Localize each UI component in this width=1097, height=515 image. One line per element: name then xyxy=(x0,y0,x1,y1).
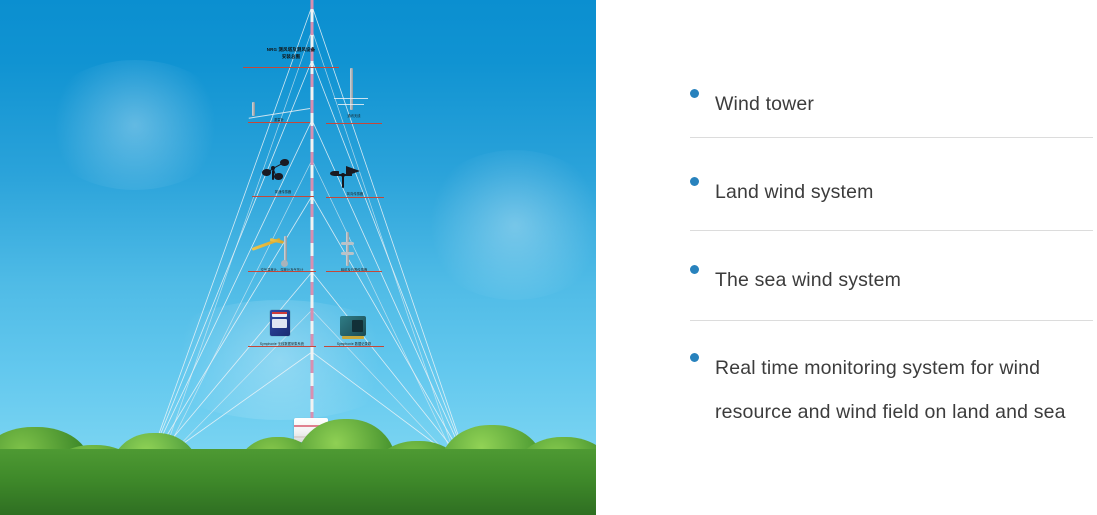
instrument-antenna: 通讯天线 xyxy=(326,68,382,128)
cup-2 xyxy=(262,169,271,176)
cup-3 xyxy=(274,173,283,180)
bullet-icon xyxy=(690,177,699,186)
list-divider-1 xyxy=(690,137,1093,138)
feature-label: Real time monitoring system for wind res… xyxy=(715,346,1066,434)
label-underline-8 xyxy=(324,346,384,347)
instrument-label-antenna: 通讯天线 xyxy=(347,114,360,118)
feature-line-2: resource and wind field on land and sea xyxy=(715,390,1066,434)
instrument-power-supply: Symphonie 数据记录箱 xyxy=(324,310,384,356)
label-underline-5 xyxy=(248,271,316,272)
solar-sensor-ring-1 xyxy=(341,242,354,245)
diagram-title-line1: NRG 测风塔及测风设备 xyxy=(267,47,316,52)
label-underline-7 xyxy=(248,346,316,347)
lightning-rod-post xyxy=(252,102,255,116)
feature-item-sea-wind-system[interactable]: The sea wind system xyxy=(690,258,1093,302)
instrument-label-anemometer: 风速传感器 xyxy=(275,190,291,194)
vegetation-base xyxy=(0,449,596,515)
feature-label: The sea wind system xyxy=(715,258,901,302)
feature-item-realtime-monitoring[interactable]: Real time monitoring system for wind res… xyxy=(690,346,1093,434)
diagram-title-line2: 安装总图 xyxy=(282,54,300,59)
feature-line-1: The sea wind system xyxy=(715,269,901,291)
instrument-wind-vane: 风向传感器 xyxy=(326,160,384,206)
bullet-icon xyxy=(690,265,699,274)
antenna-element-2 xyxy=(338,104,364,105)
feature-list: Wind tower Land wind system The sea wind… xyxy=(690,0,1093,515)
power-supply-foot xyxy=(342,336,364,339)
wind-vane-stem xyxy=(342,176,344,188)
label-underline-4 xyxy=(326,197,384,198)
anemometer-cups-icon xyxy=(262,156,292,182)
data-logger-panel xyxy=(272,319,287,328)
label-underline-1 xyxy=(248,122,310,123)
bullet-icon xyxy=(690,89,699,98)
feature-line-1: Land wind system xyxy=(715,181,873,203)
bullet-icon xyxy=(690,353,699,362)
antenna-element-1 xyxy=(334,98,368,99)
solar-sensor-ring-2 xyxy=(341,252,354,255)
instrument-data-logger: Symphonie 无线数据采集系统 xyxy=(248,308,316,356)
power-supply-box-icon xyxy=(340,316,366,336)
feature-label: Wind tower xyxy=(715,82,814,126)
solar-sensor-mast xyxy=(346,232,349,266)
feature-label: Land wind system xyxy=(715,170,873,214)
feature-item-land-wind-system[interactable]: Land wind system xyxy=(690,170,1093,214)
wind-vane-hub xyxy=(341,173,345,177)
anemometer-stem xyxy=(272,170,274,180)
data-logger-stripe xyxy=(272,312,287,314)
feature-item-wind-tower[interactable]: Wind tower xyxy=(690,82,1093,126)
label-underline-6 xyxy=(326,271,382,272)
diagram-title: NRG 测风塔及测风设备 安装总图 xyxy=(243,47,339,60)
temp-sensor-head xyxy=(281,260,288,267)
label-underline-3 xyxy=(252,196,314,197)
list-divider-3 xyxy=(690,320,1093,321)
wind-tower-photo: NRG 测风塔及测风设备 安装总图 避雷针 通讯天线 xyxy=(0,0,596,515)
cup-1 xyxy=(280,159,289,166)
instrument-label-wind-vane: 风向传感器 xyxy=(347,192,363,196)
list-divider-2 xyxy=(690,230,1093,231)
feature-list-panel: Wind tower Land wind system The sea wind… xyxy=(596,0,1097,515)
diagram-title-underline xyxy=(243,67,339,68)
feature-line-1: Wind tower xyxy=(715,93,814,115)
wind-vane-nose-icon xyxy=(330,171,339,176)
page-root: NRG 测风塔及测风设备 安装总图 避雷针 通讯天线 xyxy=(0,0,1097,515)
label-underline-2 xyxy=(326,123,382,124)
data-logger-box-icon xyxy=(270,310,290,336)
power-supply-face xyxy=(352,320,363,332)
feature-line-1: Real time monitoring system for wind xyxy=(715,357,1040,379)
tree-canopy xyxy=(0,365,596,515)
